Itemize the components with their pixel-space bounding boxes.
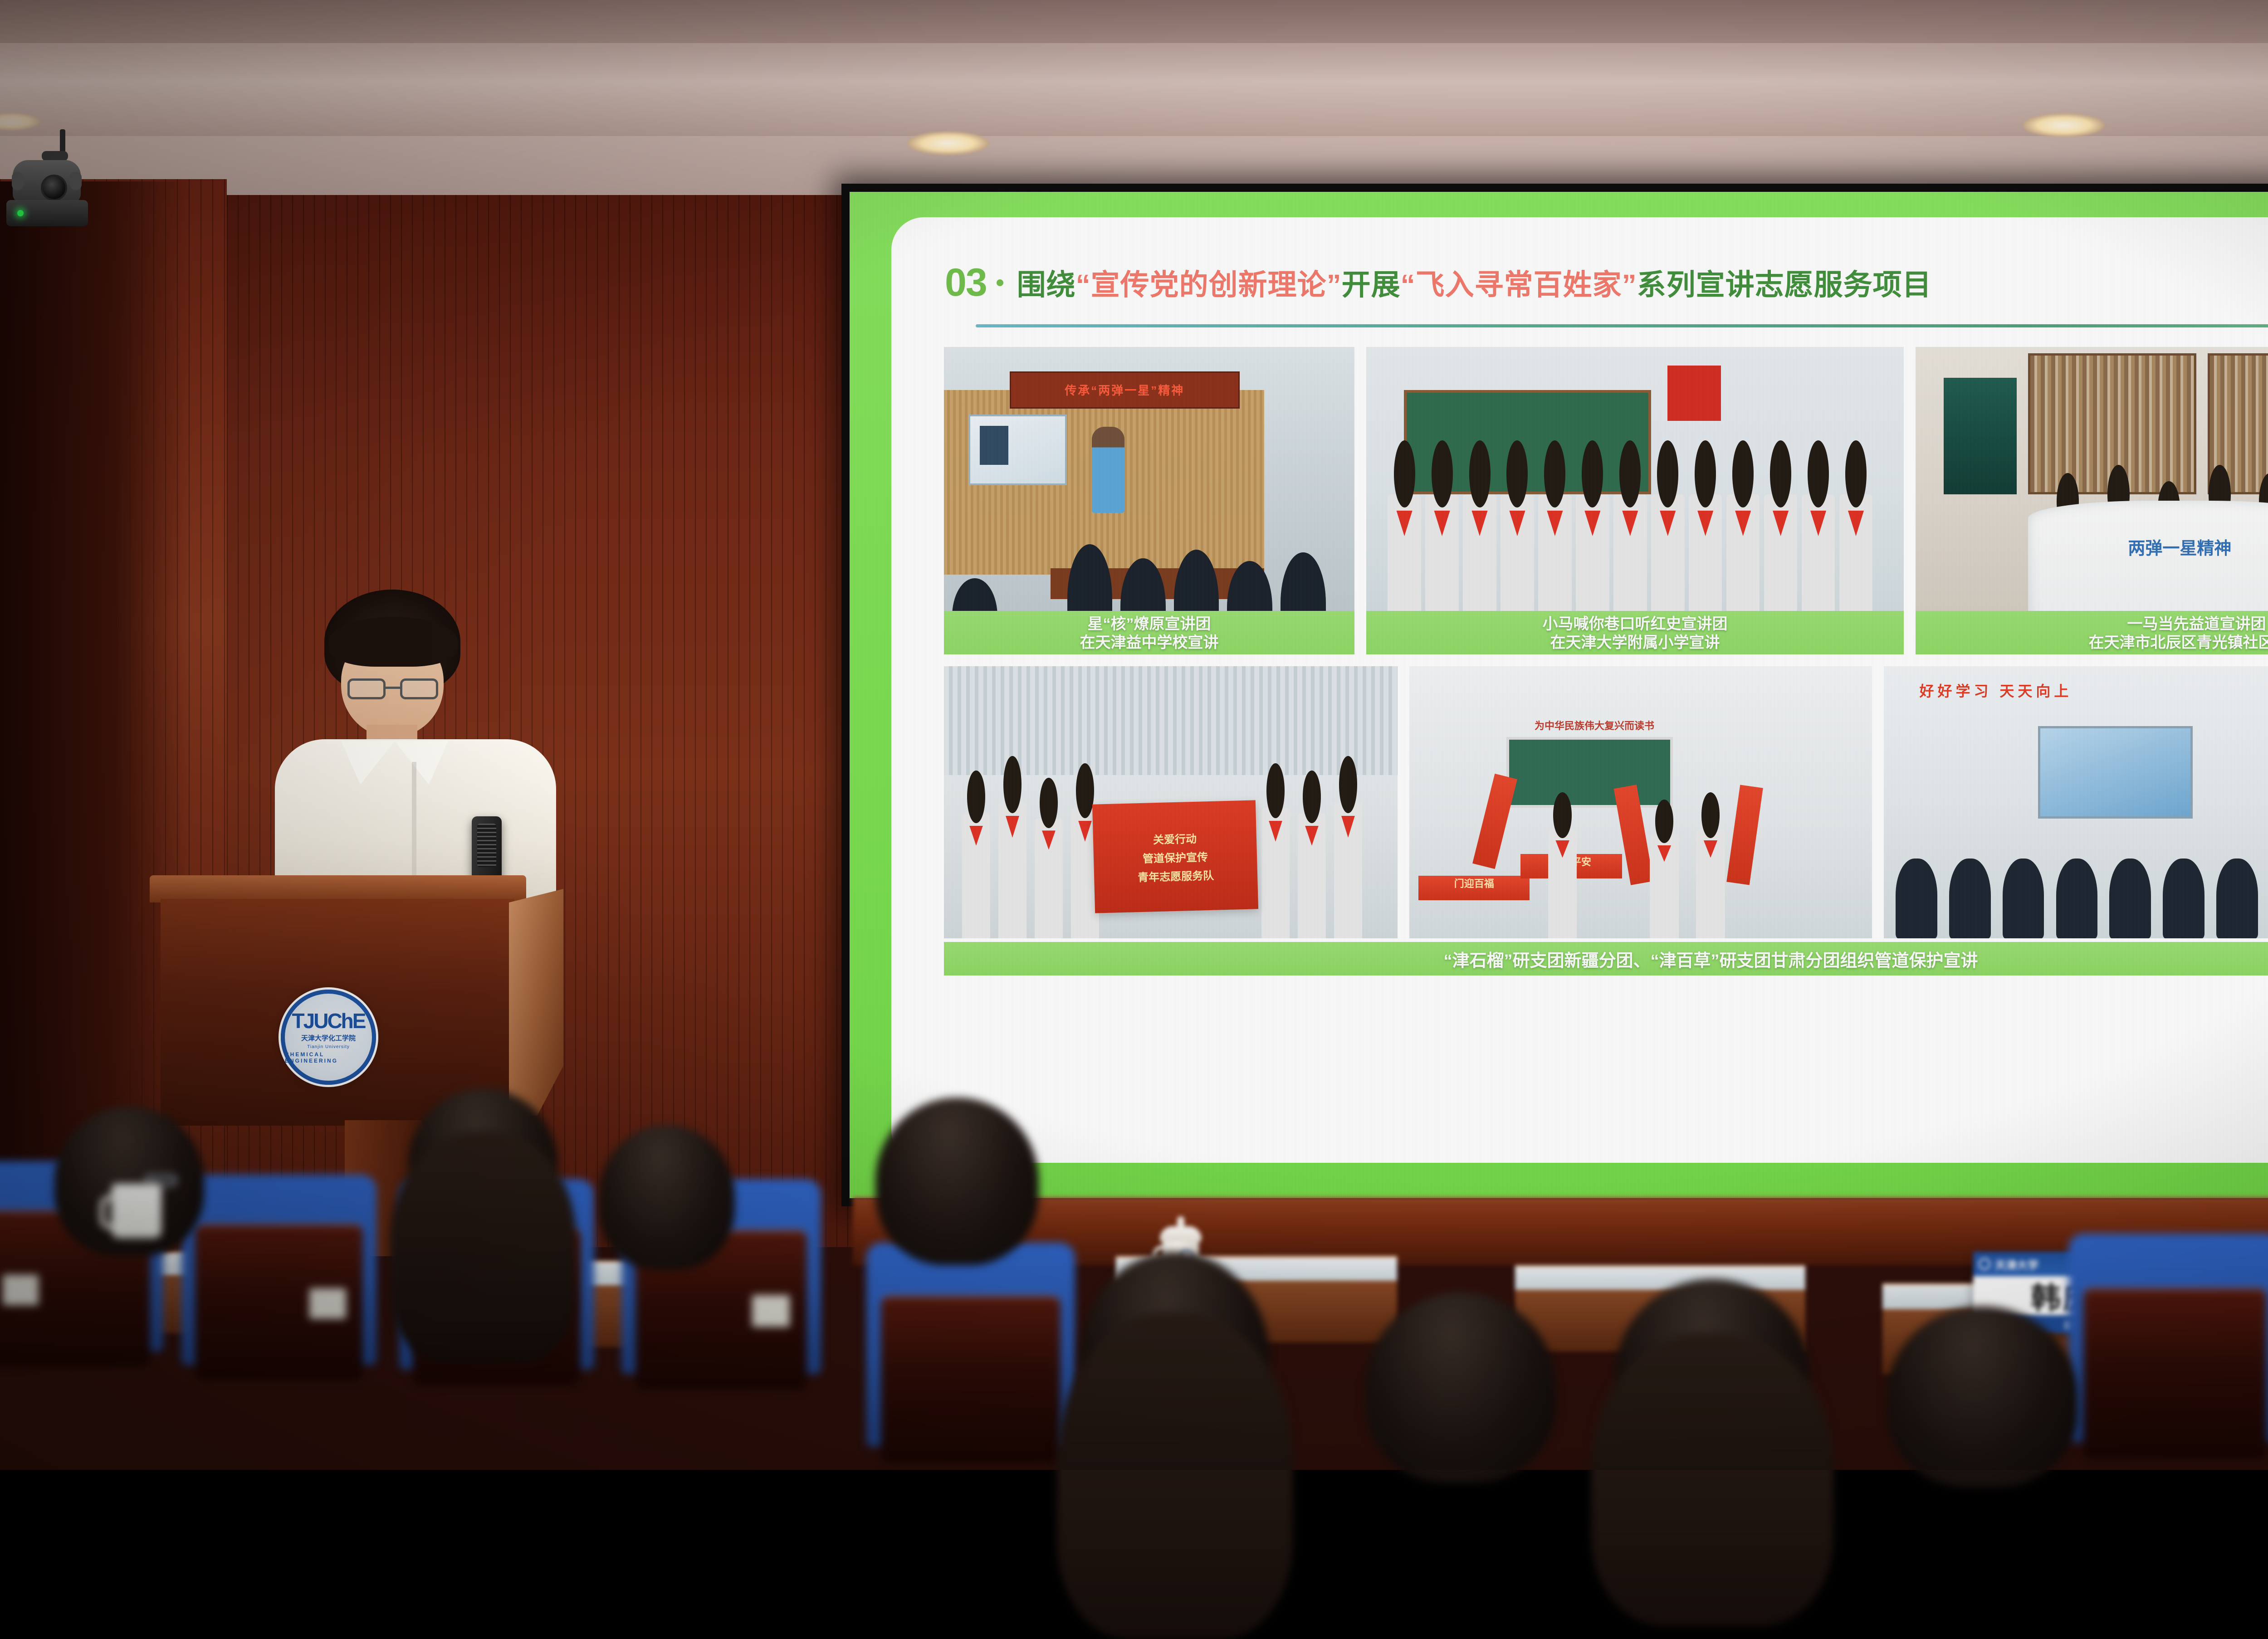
title-text: 围绕“宣传党的创新理论”开展“飞入寻常百姓家”系列宣讲志愿服务项目 (1017, 262, 1932, 303)
bottom-caption-bar: “津石榴”研支团新疆分团、“津百草”研支团甘肃分团组织管道保护宣讲 (944, 942, 2268, 976)
photo-3-banner-text: 两弹一星精神 (2028, 539, 2268, 559)
photo-3-caption-line2: 在天津市北辰区青光镇社区宣讲 (1919, 634, 2268, 652)
speaker-glasses-icon (347, 678, 438, 699)
photo-card-3[interactable]: 两弹一星精神 一马当先益道宣讲团 在天津市北辰区青光镇社区宣讲 (1916, 347, 2268, 654)
photo-4-image: 关爱行动 管道保护宣传 青年志愿服务队 (944, 666, 1398, 938)
photo-5-image: 为中华民族伟大复兴而读书 门迎百福 出入平安 (1409, 666, 1872, 938)
university-emblem-icon: TJUChE 天津大学化工学院 Tianjin University CHEMI… (281, 990, 376, 1085)
podium-stem (345, 1120, 422, 1256)
emblem-department: CHEMICAL ENGINEERING (285, 1051, 372, 1064)
photo-3-image: 两弹一星精神 (1916, 347, 2268, 654)
nameplate-1-university: 天津大学 (1995, 1256, 2038, 1272)
photo-6-student-head (2109, 859, 2151, 938)
photo-6-students (1884, 824, 2268, 938)
photo-6-student-head (2163, 859, 2204, 938)
speaker-fringe (329, 617, 458, 667)
photo-2-caption: 小马喊你巷口听红史宣讲团 在天津大学附属小学宣讲 (1366, 611, 1904, 654)
photo-card-4[interactable]: 关爱行动 管道保护宣传 青年志愿服务队 (944, 666, 1398, 938)
photo-1-banner: 传承“两弹一星”精神 (1010, 371, 1240, 408)
photo-4-child (962, 813, 990, 938)
nameplate-1-name: 韩庆华 (1973, 1276, 2186, 1315)
title-suffix: 系列宣讲志愿服务项目 (1637, 268, 1932, 301)
photo-4-child (1035, 819, 1063, 938)
chair-desk-panel (881, 1296, 1061, 1463)
photo-3-caption: 一马当先益道宣讲团 在天津市北辰区青光镇社区宣讲 (1916, 611, 2268, 654)
photo-6-wall-slogan: 好好学习 天天向上 (1920, 680, 2268, 701)
podium-body: TJUChE 天津大学化工学院 Tianjin University CHEMI… (161, 899, 514, 1126)
auditorium-chair (866, 1243, 1075, 1447)
photo-1-caption-line1: 星“核”燎原宣讲团 (948, 615, 1351, 634)
photo-4-banner-line2: 管道保护宣传 (1143, 848, 1208, 866)
photo-card-6[interactable]: 好好学习 天天向上 (1884, 666, 2268, 938)
emblem-english-name: Tianjin University (307, 1044, 350, 1049)
photo-4-banner-line3: 青年志愿服务队 (1138, 866, 1214, 884)
glasses-lens-right (400, 678, 438, 699)
front-table (104, 1252, 358, 1333)
microphone-grill (477, 824, 496, 867)
nameplate-1: 天津大学 韩庆华 副校长 (1973, 1252, 2186, 1333)
photo-6-student-head (2003, 859, 2044, 938)
photo-4-child (1261, 808, 1290, 938)
chair-label-sticker (752, 1295, 790, 1327)
presentation-slide: 03 围绕“宣传党的创新理论”开展“飞入寻常百姓家”系列宣讲志愿服务项目 传承“… (850, 192, 2268, 1198)
photo-5-couplet-vertical (1726, 785, 1763, 885)
photo-1-banner-text: 传承“两弹一星”精神 (1011, 373, 1238, 407)
photo-4-red-banner: 关爱行动 管道保护宣传 青年志愿服务队 (1092, 800, 1258, 913)
photo-1-image: 传承“两弹一星”精神 (944, 347, 1354, 654)
photo-1-caption: 星“核”燎原宣讲团 在天津益中学校宣讲 (944, 611, 1354, 654)
chair-label-sticker (430, 1293, 466, 1324)
photo-5-board-slogan: 为中华民族伟大复兴而读书 (1511, 718, 1677, 732)
photo-5-student (1650, 835, 1678, 938)
ceiling-downlight (907, 132, 989, 155)
photo-3-poster (1944, 378, 2017, 495)
photo-6-image: 好好学习 天天向上 (1884, 666, 2268, 938)
title-quote-2: “飞入寻常百姓家” (1401, 268, 1637, 301)
photo-1-caption-line2: 在天津益中学校宣讲 (948, 634, 1351, 652)
title-quote-1: “宣传党的创新理论” (1076, 268, 1342, 301)
photo-1-tv-portrait (980, 426, 1008, 465)
photo-5-student (1548, 829, 1577, 938)
photo-4-child (1334, 802, 1362, 938)
teacup-knob (1177, 1216, 1184, 1230)
camera-side-left (12, 172, 24, 190)
photo-5-student (1696, 829, 1725, 938)
podium-top (150, 875, 526, 902)
emblem-chinese-name: 天津大学化工学院 (301, 1033, 356, 1043)
photo-5-couplet-vertical (1472, 774, 1517, 869)
photo-card-1[interactable]: 传承“两弹一星”精神 (944, 347, 1354, 654)
photo-5-couplet-horizontal: 门迎百福 (1418, 876, 1530, 900)
glasses-lens-left (347, 678, 386, 699)
photo-card-5[interactable]: 为中华民族伟大复兴而读书 门迎百福 出入平安 (1409, 666, 1872, 938)
lidded-teacup (1159, 1215, 1203, 1283)
title-divider (976, 324, 2268, 327)
photo-2-caption-line2: 在天津大学附属小学宣讲 (1370, 634, 1900, 652)
photo-2-flag (1667, 366, 1721, 421)
photo-grid-bottom: 关爱行动 管道保护宣传 青年志愿服务队 为中华民族伟大复兴而读书 门迎百福 (944, 666, 2268, 938)
photo-2-caption-line1: 小马喊你巷口听红史宣讲团 (1370, 615, 1900, 634)
ceiling-soffit (0, 0, 2268, 43)
chair-back (866, 1243, 1075, 1447)
photo-4-child (998, 802, 1026, 938)
camera-head (13, 160, 81, 203)
photo-card-2[interactable]: 小马喊你巷口听红史宣讲团 在天津大学附属小学宣讲 (1366, 347, 1904, 654)
photo-6-student-head (1949, 859, 1991, 938)
front-table (490, 1261, 744, 1347)
teacup-logo-icon (1180, 1250, 1193, 1263)
ceiling-downlight (2023, 113, 2105, 137)
front-table (1515, 1265, 1805, 1351)
projection-screen[interactable]: 03 围绕“宣传党的创新理论”开展“飞入寻常百姓家”系列宣讲志愿服务项目 传承“… (841, 184, 2268, 1206)
speaker-person (245, 590, 590, 907)
photo-6-student-head (1896, 859, 1937, 938)
lectern-podium: TJUChE 天津大学化工学院 Tianjin University CHEMI… (150, 875, 558, 1283)
photo-2-image (1366, 347, 1904, 654)
photo-4-banner-lines: 关爱行动 管道保护宣传 青年志愿服务队 (1092, 800, 1258, 913)
photo-6-display (2038, 726, 2192, 819)
photo-grid-top: 传承“两弹一星”精神 (944, 347, 2268, 654)
camera-lens-icon (41, 175, 67, 201)
photo-5-blackboard (1506, 737, 1673, 808)
ptz-camera-icon (5, 156, 100, 238)
glasses-bridge (386, 687, 400, 689)
photo-6-student-head (2056, 859, 2098, 938)
title-prefix: 围绕 (1017, 268, 1076, 301)
slide-white-card: 03 围绕“宣传党的创新理论”开展“飞入寻常百姓家”系列宣讲志愿服务项目 传承“… (891, 217, 2268, 1163)
podium-side-panel (509, 889, 563, 1116)
emblem-monogram: TJUChE (292, 1010, 365, 1031)
camera-status-led (17, 210, 24, 216)
photo-4-child (1298, 813, 1326, 938)
camera-side-right (70, 172, 82, 190)
nameplate-1-logo-icon (1979, 1258, 1990, 1270)
photo-4-banner-line1: 关爱行动 (1153, 829, 1197, 847)
audience-hair (1591, 1333, 1833, 1626)
nameplate-1-subtitle: 副校长 (1973, 1315, 2186, 1333)
title-bullet-dot (997, 279, 1003, 286)
camera-arm (42, 151, 68, 161)
photo-6-student-head (2216, 859, 2258, 938)
section-number: 03 (945, 263, 987, 302)
slide-title: 03 围绕“宣传党的创新理论”开展“飞入寻常百姓家”系列宣讲志愿服务项目 (945, 256, 2268, 309)
photo-1-tv (968, 415, 1067, 485)
lecture-hall-room: 03 围绕“宣传党的创新理论”开展“飞入寻常百姓家”系列宣讲志愿服务项目 传承“… (0, 0, 2268, 1470)
title-middle: 开展 (1342, 268, 1401, 301)
photo-1-presenter (1092, 427, 1124, 513)
audience-hair (1057, 1312, 1293, 1639)
nameplate-1-header: 天津大学 (1973, 1252, 2186, 1276)
photo-3-caption-line1: 一马当先益道宣讲团 (1919, 615, 2268, 634)
